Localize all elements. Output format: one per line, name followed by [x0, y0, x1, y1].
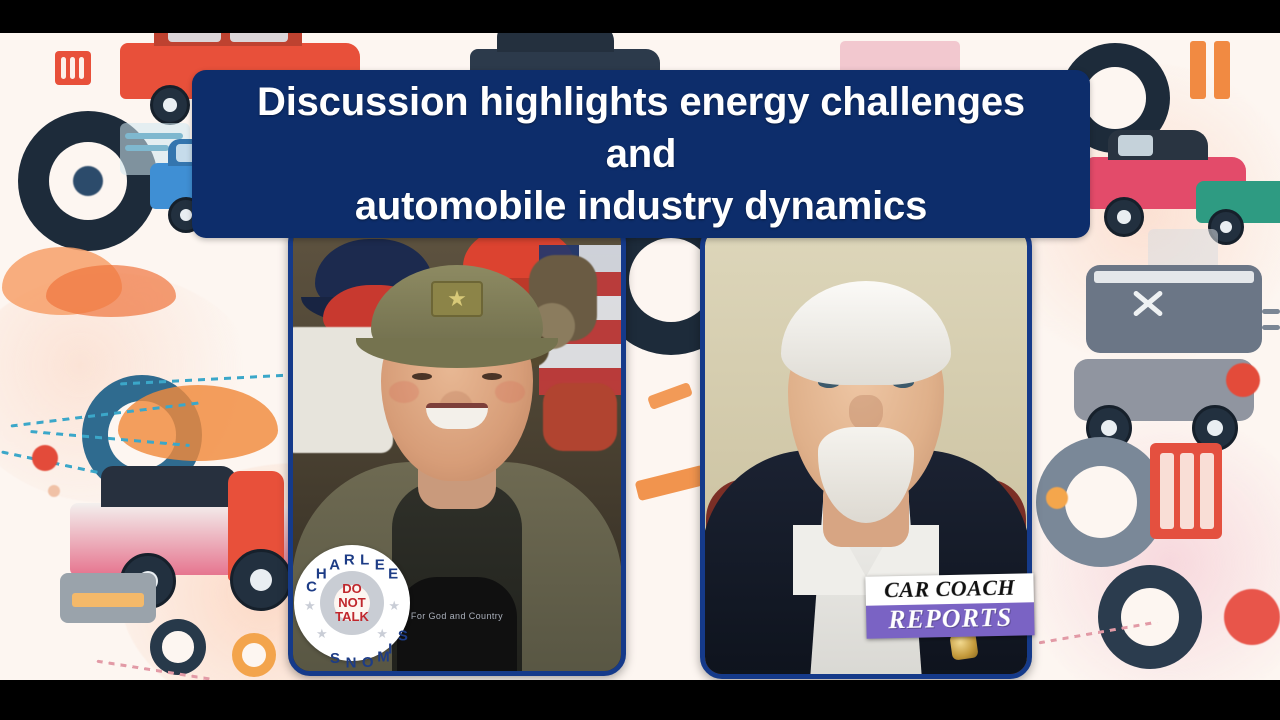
right-hair: [781, 281, 951, 385]
cap-emblem: ★: [431, 281, 483, 317]
ring-char: E: [388, 566, 398, 583]
ring-char: S: [330, 650, 340, 667]
logo-line-1: CAR COACH: [865, 573, 1034, 606]
title-line-2: automobile industry dynamics: [218, 180, 1064, 232]
left-cap: ★: [371, 265, 543, 359]
badge-line-1: DO: [323, 582, 381, 596]
badge-line-3: TALK: [323, 610, 381, 624]
cap-star-icon: ★: [447, 288, 467, 310]
left-mouth: [426, 403, 488, 429]
title-line-1: Discussion highlights energy challenges …: [218, 76, 1064, 180]
ring-char: S: [398, 627, 408, 644]
left-microphone: For God and Country: [397, 577, 517, 671]
right-nose: [849, 395, 883, 431]
ring-char: M: [377, 648, 390, 665]
badge-line-2: NOT: [323, 596, 381, 610]
video-frame: Discussion highlights energy challenges …: [0, 0, 1280, 720]
ring-char: O: [362, 654, 374, 671]
letterbox-bottom: [0, 680, 1280, 720]
letterbox-top: [0, 0, 1280, 33]
title-banner: Discussion highlights energy challenges …: [192, 70, 1090, 238]
charlee-simons-logo[interactable]: C H A R L E E S I M O N S ★ ★ ★ ★: [294, 545, 410, 661]
microphone-label: For God and Country: [411, 611, 503, 621]
ring-char: N: [346, 655, 357, 672]
badge-center-text: DO NOT TALK: [323, 582, 381, 624]
logo-line-2: REPORTS: [866, 602, 1035, 639]
car-coach-reports-logo[interactable]: CAR COACH REPORTS: [865, 573, 1034, 639]
